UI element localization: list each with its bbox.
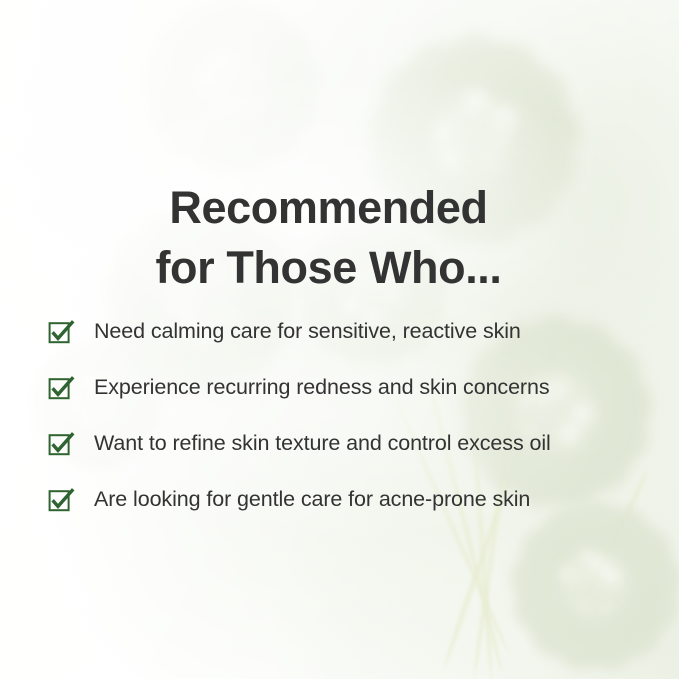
checked-checkbox-icon: [48, 487, 74, 513]
product-infographic-poster: Recommended for Those Who... Need calmin…: [0, 0, 679, 679]
list-item-label: Are looking for gentle care for acne-pro…: [94, 486, 530, 512]
list-item-4: Are looking for gentle care for acne-pro…: [48, 481, 655, 537]
poster-content: Recommended for Those Who... Need calmin…: [0, 0, 679, 679]
checked-checkbox-icon: [48, 375, 74, 401]
list-item-label: Experience recurring redness and skin co…: [94, 374, 550, 400]
checked-checkbox-icon: [48, 431, 74, 457]
page-title: Recommended for Those Who...: [0, 178, 679, 298]
list-item-label: Want to refine skin texture and control …: [94, 430, 551, 456]
recommendation-list: Need calming care for sensitive, reactiv…: [48, 313, 655, 537]
list-item-1: Need calming care for sensitive, reactiv…: [48, 313, 655, 369]
list-item-2: Experience recurring redness and skin co…: [48, 369, 655, 425]
checked-checkbox-icon: [48, 319, 74, 345]
page-title-line-1: Recommended: [0, 178, 657, 238]
page-title-line-2: for Those Who...: [0, 238, 657, 298]
list-item-3: Want to refine skin texture and control …: [48, 425, 655, 481]
list-item-label: Need calming care for sensitive, reactiv…: [94, 318, 521, 344]
